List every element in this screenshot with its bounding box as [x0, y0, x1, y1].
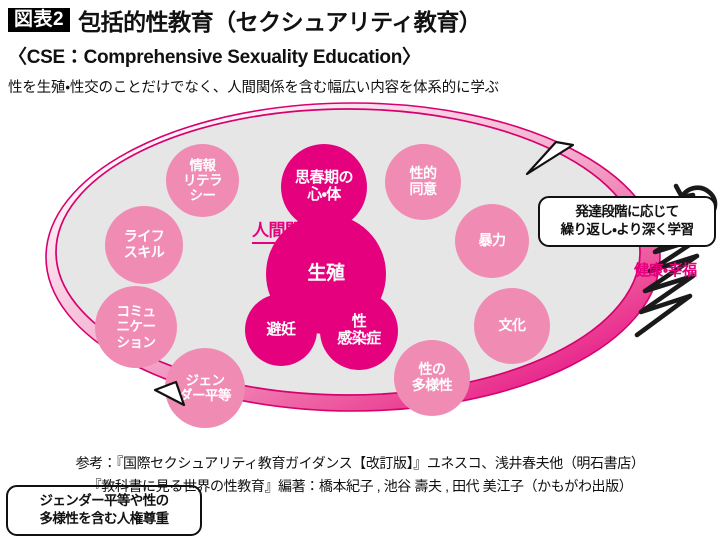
header: 図表2 包括的性教育（セクシュアリティ教育） 〈CSE：Comprehensiv…	[8, 4, 712, 97]
citation-line-2: 『教科書に見る世界の性教育』編著：橋本紀子 , 池谷 壽夫 , 田代 美江子（か…	[0, 475, 720, 498]
core-bubble-sti[interactable]: 性感染症	[320, 292, 398, 370]
page-title: 包括的性教育（セクシュアリティ教育）	[78, 3, 481, 37]
satellite-bubble-sexual-consent[interactable]: 性的同意	[385, 144, 461, 220]
citation-line-1: 参考：『国際セクシュアリティ教育ガイダンス【改訂版】』ユネスコ、浅井春夫他（明石…	[0, 452, 720, 475]
satellite-bubble-gender-equality[interactable]: ジェンダー平等	[165, 348, 245, 428]
satellite-bubble-sexual-diversity[interactable]: 性の多様性	[394, 340, 470, 416]
health-wellbeing-label: 健康・幸福	[634, 259, 697, 280]
satellite-bubble-information-literacy[interactable]: 情報リテラシー	[166, 144, 239, 217]
diagram-canvas: 人間関係・人権 健康・幸福 情報リテラシー ライフスキル コミュニケーション ジ…	[0, 96, 720, 448]
satellite-bubble-communication[interactable]: コミュニケーション	[95, 286, 177, 368]
title-row: 図表2 包括的性教育（セクシュアリティ教育）	[8, 4, 712, 36]
source-citation: 参考：『国際セクシュアリティ教育ガイダンス【改訂版】』ユネスコ、浅井春夫他（明石…	[0, 452, 720, 498]
satellite-bubble-life-skills[interactable]: ライフスキル	[105, 206, 183, 284]
satellite-bubble-culture[interactable]: 文化	[474, 288, 550, 364]
satellite-bubble-violence[interactable]: 暴力	[455, 204, 529, 278]
subtitle-english: 〈CSE：Comprehensive Sexuality Education〉	[8, 42, 712, 69]
callout-developmental-stage[interactable]: 発達段階に応じて繰り返し・より深く学習	[538, 196, 716, 247]
subtitle-japanese: 性を生殖・性交のことだけでなく、人間関係を含む幅広い内容を体系的に学ぶ	[8, 76, 712, 97]
core-bubble-contraception[interactable]: 避妊	[245, 294, 317, 366]
figure-number-badge: 図表2	[8, 8, 70, 32]
